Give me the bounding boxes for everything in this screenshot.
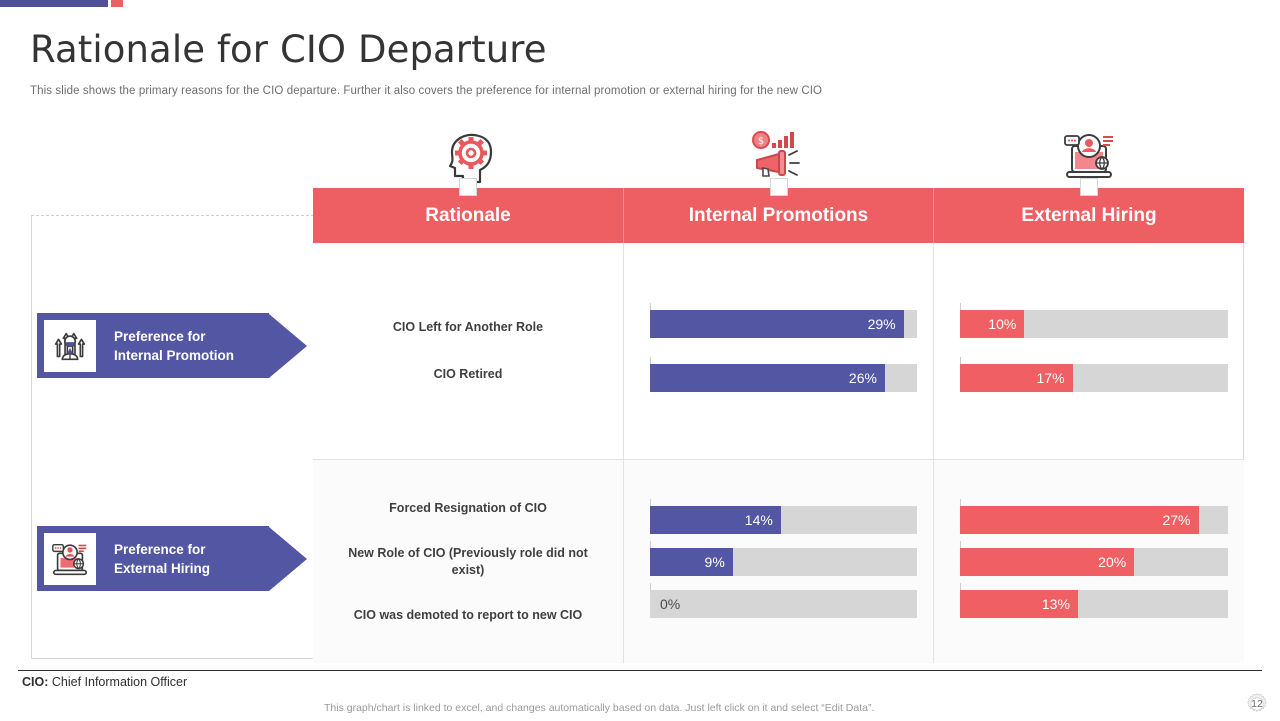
bar-track: 17% [960,364,1228,392]
column-header-label: Rationale [425,205,511,227]
bar-row: 26% [624,364,933,392]
bar-track: 29% [650,310,917,338]
bar-row: 17% [934,364,1244,392]
bar-track: 9% [650,548,917,576]
bar-tick [650,357,651,364]
column-header-label: External Hiring [1021,205,1156,227]
bar-tick [650,541,651,548]
banner-label-line1: Preference for [114,329,206,344]
footnote-expansion: Chief Information Officer [52,675,187,689]
bar-track: 14% [650,506,917,534]
laptop-recruiting-icon [1059,128,1119,184]
banner-body: Preference for Internal Promotion [37,313,269,378]
column-header-internal-promotions: Internal Promotions [624,188,934,243]
external-hiring-cell: 27% 20% 13% [934,460,1244,663]
accent-segment-purple [0,0,108,7]
rationale-cell: Forced Resignation of CIO New Role of CI… [313,460,624,663]
bar-value: 20% [960,548,1134,576]
bar-row: 9% [624,548,933,576]
bar-tick [650,583,651,590]
bar-value: 13% [960,590,1078,618]
table-band-internal: CIO Left for Another Role CIO Retired 29… [313,243,1244,460]
bar-tick [650,499,651,506]
table-header-row: Rationale Internal Promotions External H… [313,188,1244,243]
internal-promotions-cell: 29% 26% [624,243,934,459]
header-notch [1080,178,1098,196]
bar-track: 27% [960,506,1228,534]
bar-value: 17% [960,364,1073,392]
bar-track: 26% [650,364,917,392]
bar-tick [650,303,651,310]
external-hiring-cell: 10% 17% [934,243,1244,459]
bar-row: 14% [624,506,933,534]
bar-row: 10% [934,310,1244,338]
row-label: New Role of CIO (Previously role did not… [313,545,623,579]
rationale-cell: CIO Left for Another Role CIO Retired [313,243,624,459]
banner-arrow-head [269,527,307,591]
footer-divider [18,670,1262,671]
bar-row: 20% [934,548,1244,576]
bar-tick [960,541,961,548]
page-number-badge: 12 [1245,692,1269,716]
online-recruiting-icon [44,533,96,585]
bar-track: 0% [650,590,917,618]
bar-row: 13% [934,590,1244,618]
page-subtitle: This slide shows the primary reasons for… [30,85,822,97]
bar-value: 9% [650,548,733,576]
head-with-gear-icon [439,128,499,184]
bar-tick [960,499,961,506]
column-header-label: Internal Promotions [689,205,868,227]
bar-value: 0% [660,596,680,612]
row-label: CIO was demoted to report to new CIO [313,607,623,624]
column-header-external-hiring: External Hiring [934,188,1244,243]
bar-track: 10% [960,310,1228,338]
banner-external-hiring[interactable]: Preference for External Hiring [37,526,307,591]
excel-linked-note: This graph/chart is linked to excel, and… [324,702,874,714]
page-number-label: 12 [1245,692,1269,716]
bar-tick [960,303,961,310]
header-notch [770,178,788,196]
banner-arrow-head [269,314,307,378]
banner-label: Preference for Internal Promotion [114,327,234,365]
table-band-external: Forced Resignation of CIO New Role of CI… [313,460,1244,663]
people-growth-icon [44,320,96,372]
row-label: CIO Retired [313,366,623,383]
footnote-abbr: CIO: [22,675,48,689]
row-label: CIO Left for Another Role [313,319,623,336]
megaphone-chart-icon: $ [749,128,809,184]
column-header-rationale: Rationale [313,188,624,243]
page-title: Rationale for CIO Departure [30,28,547,71]
comparison-table: Rationale Internal Promotions External H… [313,188,1244,663]
bar-value: 10% [960,310,1024,338]
bar-row: 0% [624,590,933,618]
top-accent-bar [0,0,1280,7]
bar-row: 29% [624,310,933,338]
bar-track: 13% [960,590,1228,618]
bar-value: 27% [960,506,1199,534]
header-notch [459,178,477,196]
bar-tick [960,583,961,590]
banner-label: Preference for External Hiring [114,540,210,578]
banner-label-line2: Internal Promotion [114,348,234,363]
banner-internal-promotion[interactable]: Preference for Internal Promotion [37,313,307,378]
banner-label-line1: Preference for [114,542,206,557]
banner-body: Preference for External Hiring [37,526,269,591]
svg-text:$: $ [758,136,764,147]
internal-promotions-cell: 14% 9% 0% [624,460,934,663]
bar-row: 27% [934,506,1244,534]
bar-value: 26% [650,364,885,392]
bar-value: 14% [650,506,781,534]
bar-value: 29% [650,310,904,338]
accent-segment-red [111,0,123,7]
bar-tick [960,357,961,364]
bar-track: 20% [960,548,1228,576]
banner-label-line2: External Hiring [114,561,210,576]
footnote-abbreviation: CIO: Chief Information Officer [22,675,187,689]
row-label: Forced Resignation of CIO [313,500,623,517]
